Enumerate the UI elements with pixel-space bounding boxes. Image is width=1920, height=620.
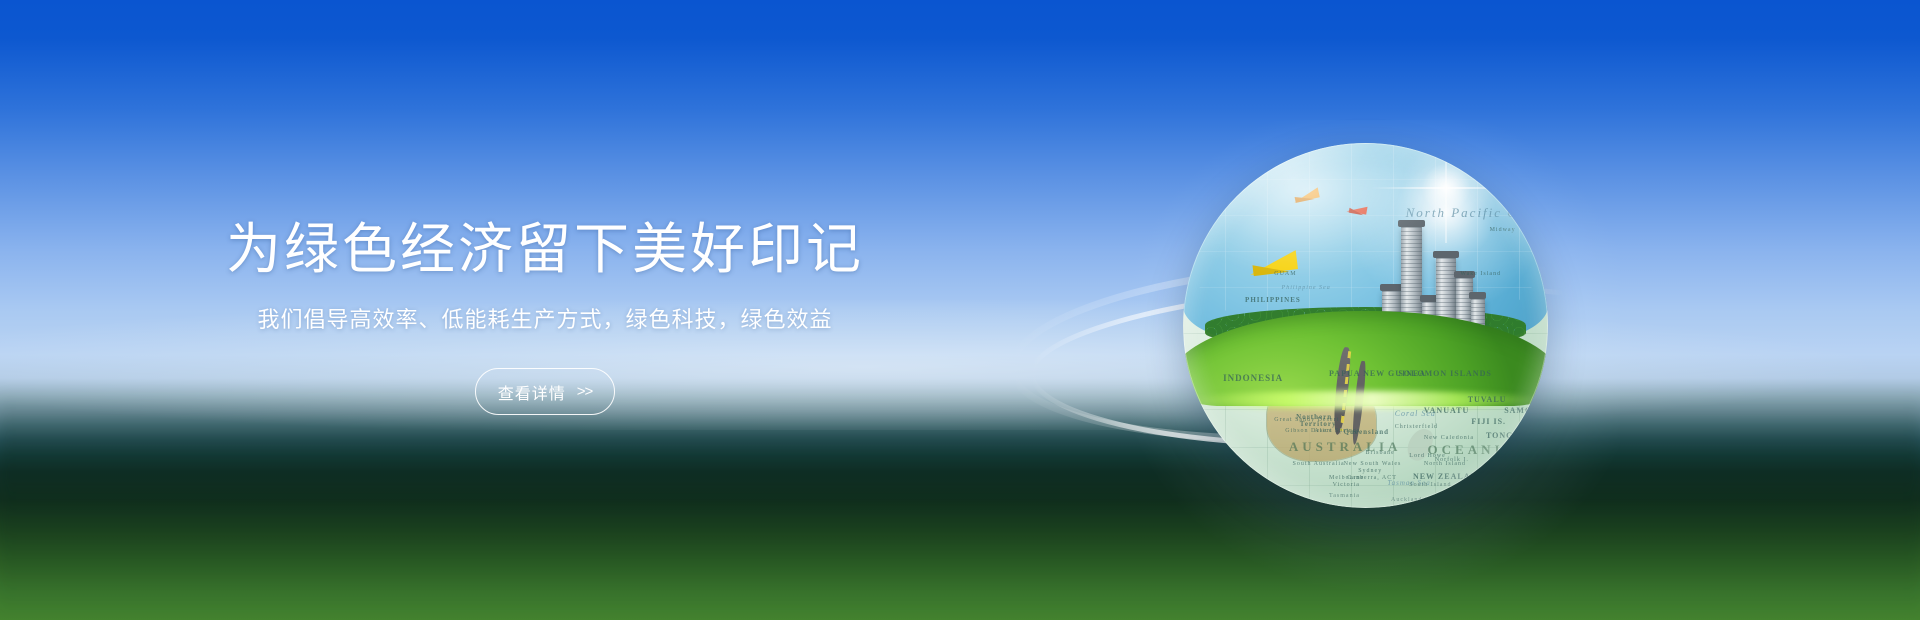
hero-banner: North Pacific OceanWake IslandMidwayPHIL… [0,0,1920,620]
double-chevron-right-icon: >> [577,383,593,400]
globe-illustration: North Pacific OceanWake IslandMidwayPHIL… [1178,143,1548,561]
page-subtitle: 我们倡导高效率、低能耗生产方式，绿色科技，绿色效益 [257,309,832,331]
view-details-button[interactable]: 查看详情 >> [475,368,615,415]
glass-globe: North Pacific OceanWake IslandMidwayPHIL… [1183,143,1548,508]
hero-copy: 为绿色经济留下美好印记 我们倡导高效率、低能耗生产方式，绿色科技，绿色效益 查看… [0,0,1090,620]
view-details-label: 查看详情 [498,380,566,404]
page-title: 为绿色经济留下美好印记 [226,222,864,277]
